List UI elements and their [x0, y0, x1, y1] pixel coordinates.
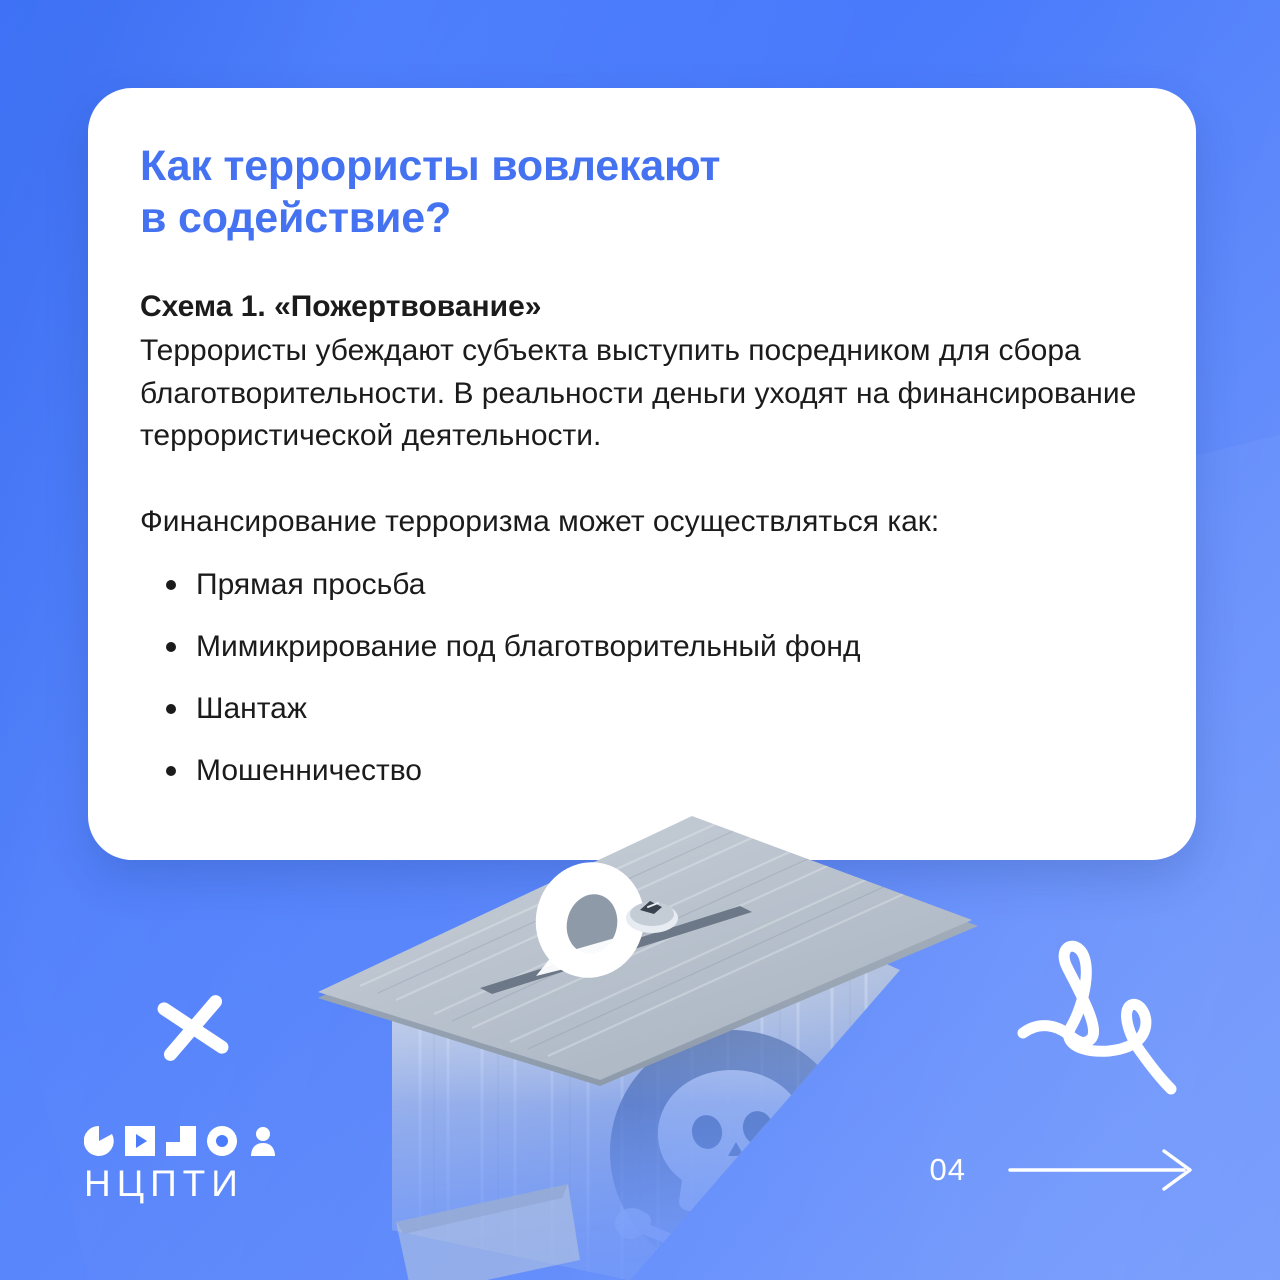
squiggle-doodle-icon [1005, 925, 1185, 1105]
stair-block-icon [166, 1126, 196, 1156]
donation-box-illustration [300, 760, 1000, 1280]
list-item: Мимикрирование под благотворительный фон… [140, 627, 1140, 666]
play-square-icon [125, 1126, 155, 1156]
brand-logo: НЦПТИ [84, 1126, 278, 1202]
scheme-title: Схема 1. «Пожертвование» [140, 287, 1140, 326]
list-item: Прямая просьба [140, 565, 1140, 604]
arrow-right-icon[interactable] [1008, 1148, 1198, 1192]
page-number: 04 [930, 1152, 966, 1188]
list-intro: Финансирование терроризма может осуществ… [140, 502, 1140, 543]
page-footer: 04 [930, 1148, 1198, 1192]
person-icon [248, 1126, 278, 1156]
content-card: Как террористы вовлекают в содействие? С… [88, 88, 1196, 860]
list-item: Шантаж [140, 689, 1140, 728]
scheme-description: Террористы убеждают субъекта выступить п… [140, 330, 1140, 458]
logo-marks [84, 1126, 278, 1156]
financing-methods-list: Прямая просьба Мимикрирование под благот… [140, 565, 1140, 790]
cross-doodle-icon [150, 985, 236, 1071]
logo-wordmark: НЦПТИ [84, 1165, 278, 1202]
circle-dot-icon [207, 1126, 237, 1156]
page-title: Как террористы вовлекают в содействие? [140, 140, 1140, 245]
pacman-icon [84, 1126, 114, 1156]
slide-canvas: Как террористы вовлекают в содействие? С… [0, 0, 1280, 1280]
